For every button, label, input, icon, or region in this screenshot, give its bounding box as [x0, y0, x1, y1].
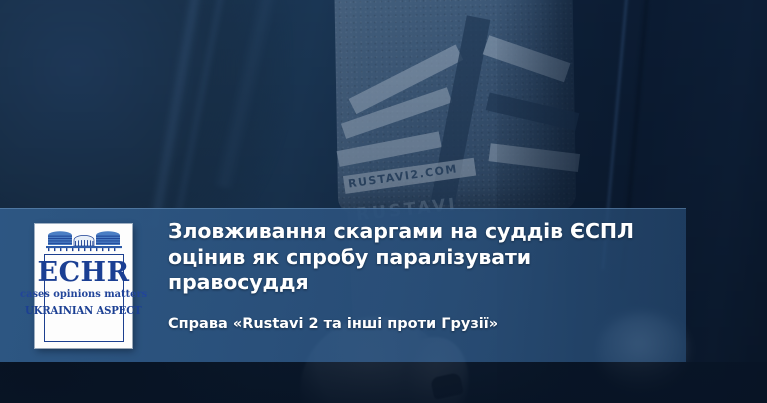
bottom-shadow-strip: [0, 362, 767, 403]
echr-acronym: ECHR: [37, 257, 129, 288]
banner-text-block: Зловживання скаргами на суддів ЄСПЛ оцін…: [168, 219, 678, 334]
echr-wordmark-box: ECHR cases opinions matters UKRAINIAN AS…: [44, 254, 124, 342]
echr-logo[interactable]: ECHR cases opinions matters UKRAINIAN AS…: [35, 224, 132, 348]
echr-project-name: UKRAINIAN ASPECT: [25, 303, 141, 318]
subheadline: Справа «Rustavi 2 та інші проти Грузії»: [168, 296, 678, 334]
echr-building-icon: [44, 229, 124, 252]
echr-tagline: cases opinions matters: [20, 288, 147, 301]
banner-top-divider: [0, 208, 686, 209]
headline: Зловживання скаргами на суддів ЄСПЛ оцін…: [168, 219, 678, 296]
banner-image: RUSTAVI2.COM RUSTAVI: [0, 0, 767, 403]
